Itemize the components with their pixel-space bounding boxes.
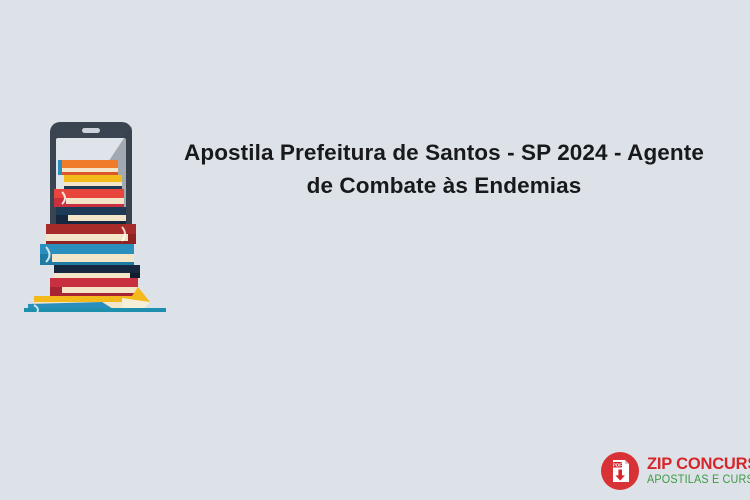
brand-logo[interactable]: PDF ZIP CONCURSOS APOSTILAS E CURSOS — [600, 449, 740, 493]
book-crimson-middle — [50, 278, 138, 296]
book-navy-upper — [56, 207, 126, 224]
book-blue-middle — [40, 244, 134, 265]
book-red-upper — [54, 189, 124, 207]
stack-of-books-with-tablet-illustration — [10, 112, 180, 312]
brand-name: ZIP CONCURSOS — [647, 456, 750, 473]
book-orange-top — [58, 160, 118, 175]
pdf-download-icon: PDF — [600, 451, 640, 491]
product-title: Apostila Prefeitura de Santos - SP 2024 … — [168, 136, 720, 202]
book-darknavy-middle — [54, 265, 140, 278]
brand-logo-text: ZIP CONCURSOS APOSTILAS E CURSOS — [647, 456, 750, 487]
book-yellow-upper — [64, 175, 122, 189]
product-banner: Apostila Prefeitura de Santos - SP 2024 … — [0, 0, 750, 500]
brand-tagline: APOSTILAS E CURSOS — [647, 475, 750, 487]
svg-text:PDF: PDF — [613, 463, 622, 468]
book-darkred-middle — [46, 224, 136, 244]
